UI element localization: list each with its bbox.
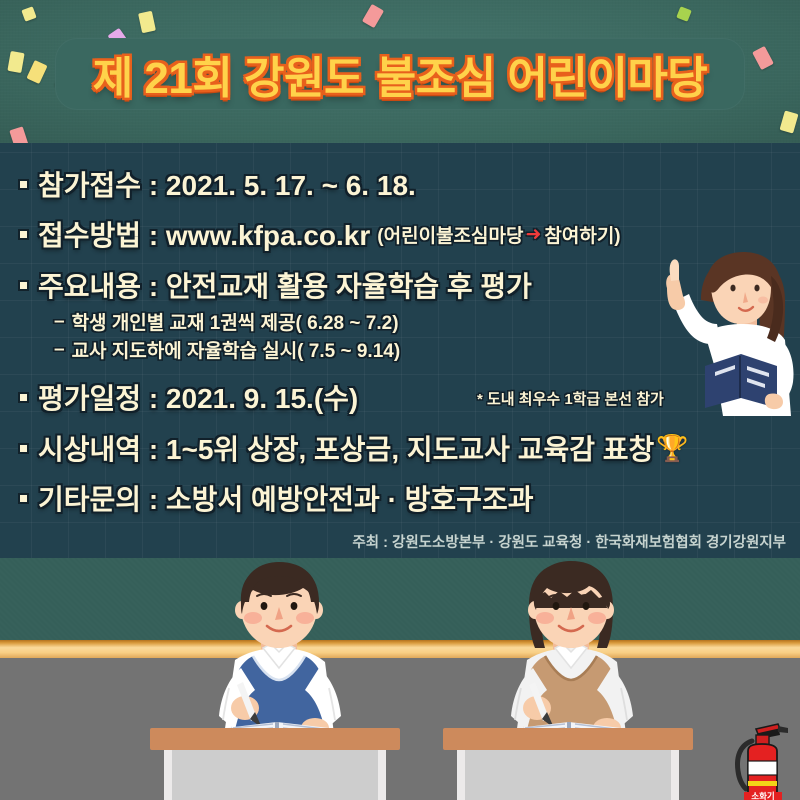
paren-before-label: (어린이불조심마당 <box>377 221 523 248</box>
list-item-label: 기타문의 : 소방서 예방안전과 · 방호구조과 <box>38 478 533 518</box>
page-title: 제 21회 강원도 불조심 어린이마당 <box>55 38 745 110</box>
student-boy <box>163 556 393 756</box>
desk-front-panel <box>465 750 671 800</box>
list-item-label: 참가접수 : 2021. 5. 17. ~ 6. 18. <box>38 164 416 204</box>
confetti-piece <box>362 4 384 28</box>
confetti-piece <box>7 51 24 73</box>
bullet-square-icon <box>18 280 29 291</box>
teacher-illustration <box>645 248 800 438</box>
dash-icon: – <box>54 311 65 333</box>
desk-front-panel <box>172 750 378 800</box>
list-item-main-content: 주요내용 : 안전교재 활용 자율학습 후 평가 <box>18 265 532 305</box>
sub-list-item-textbook: – 학생 개인별 교재 1권씩 제공( 6.28 ~ 7.2) <box>54 308 399 335</box>
dash-icon: – <box>54 339 65 361</box>
title-plate: 제 21회 강원도 불조심 어린이마당 <box>55 38 745 110</box>
desk-leg-right <box>670 750 679 800</box>
list-item-label: 접수방법 : www.kfpa.co.kr <box>38 214 370 254</box>
sub-list-item-selfstudy: – 교사 지도하에 자율학습 실시( 7.5 ~ 9.14) <box>54 336 400 363</box>
list-item-inquiries: 기타문의 : 소방서 예방안전과 · 방호구조과 <box>18 478 533 518</box>
bullet-square-icon <box>18 179 29 190</box>
desk-boy <box>150 728 400 800</box>
paren-after-label: 참여하기) <box>544 221 620 248</box>
bullet-square-icon <box>18 493 29 504</box>
bullet-square-icon <box>18 443 29 454</box>
confetti-piece <box>676 6 692 22</box>
host-organizations: 주최 : 강원도소방본부 · 강원도 교육청 · 한국화재보험협회 경기강원지부 <box>0 531 786 552</box>
desk-top-surface <box>443 728 693 750</box>
list-item-registration-method: 접수방법 : www.kfpa.co.kr (어린이불조심마당 ➜ 참여하기) <box>18 214 621 254</box>
confetti-piece <box>9 126 28 143</box>
sub-list-item-label: 교사 지도하에 자율학습 실시( 7.5 ~ 9.14) <box>72 336 401 363</box>
poster-root: 제 21회 강원도 불조심 어린이마당 참가접수 : 2021. 5. 17. … <box>0 0 800 800</box>
desk-top-surface <box>150 728 400 750</box>
list-item-label: 평가일정 : 2021. 9. 15.(수) <box>38 377 358 417</box>
list-item-registration-period: 참가접수 : 2021. 5. 17. ~ 6. 18. <box>18 164 416 204</box>
fire-extinguisher: 소화기 <box>730 713 792 800</box>
list-item-awards: 시상내역 : 1~5위 상장, 포상금, 지도교사 교육감 표창 🏆 <box>18 428 689 468</box>
desk-leg-right <box>377 750 386 800</box>
list-item-evaluation-date: 평가일정 : 2021. 9. 15.(수) <box>18 377 358 417</box>
confetti-piece <box>138 11 156 33</box>
confetti-piece <box>21 6 36 21</box>
list-item-label: 시상내역 : 1~5위 상장, 포상금, 지도교사 교육감 표창 <box>38 428 654 468</box>
arrow-right-icon: ➜ <box>525 223 541 246</box>
bullet-square-icon <box>18 392 29 403</box>
confetti-piece <box>752 46 774 70</box>
extinguisher-label: 소화기 <box>751 791 774 800</box>
finals-note: * 도내 최우수 1학급 본선 참가 <box>477 388 664 409</box>
confetti-piece <box>780 110 799 133</box>
list-item-label: 주요내용 : 안전교재 활용 자율학습 후 평가 <box>38 265 532 305</box>
confetti-piece <box>26 60 47 84</box>
sub-list-item-label: 학생 개인별 교재 1권씩 제공( 6.28 ~ 7.2) <box>72 308 399 335</box>
student-girl <box>455 556 685 756</box>
bullet-square-icon <box>18 229 29 240</box>
desk-girl <box>443 728 693 800</box>
